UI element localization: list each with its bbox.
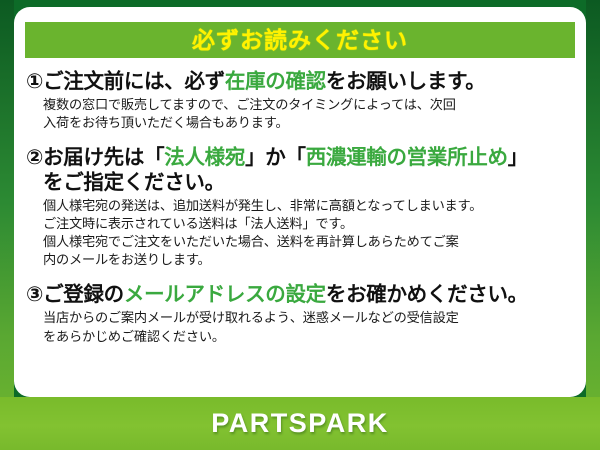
notice-item-3-headline-tail: をお確かめください。 — [326, 283, 528, 306]
notice-item-1: ①ご注文前には、必ず在庫の確認をお願いします。 複数の窓口で販売してますので、ご… — [14, 69, 586, 132]
notice-item-3: ③ご登録のメールアドレスの設定をお確かめください。 当店からのご案内メールが受け… — [14, 282, 586, 345]
notice-card: 必ずお読みください ①ご注文前には、必ず在庫の確認をお願いします。 複数の窓口で… — [0, 0, 600, 450]
notice-item-3-marker: ③ — [26, 283, 43, 306]
quote-close-2: 」 — [508, 146, 528, 169]
notice-item-2-highlight-2: 西濃運輸の営業所止め — [306, 146, 508, 169]
notice-item-2-headline: ②お届け先は「法人様宛」か「西濃運輸の営業所止め」 — [26, 145, 578, 170]
notice-item-3-body: 当店からのご案内メールが受け取れるよう、迷惑メールなどの受信設定 をあらかじめご… — [43, 309, 578, 345]
page-title: 必ずお読みください — [192, 29, 408, 52]
notice-item-1-body: 複数の窓口で販売してますので、ご注文のタイミングによっては、次回 入荷をお待ち頂… — [43, 96, 578, 132]
quote-open-1: 「 — [144, 146, 164, 169]
quote-close-1: 」 — [245, 146, 265, 169]
notice-item-3-headline: ③ご登録のメールアドレスの設定をお確かめください。 — [26, 282, 578, 307]
notice-item-2-headline-lead: お届け先は — [43, 146, 144, 169]
notice-item-2-headline-middle: か — [265, 146, 285, 169]
footer-bar: PARTSPARK — [0, 397, 600, 450]
notice-item-2-body: 個人様宅宛の発送は、追加送料が発生し、非常に高額となってしまいます。 ご注文時に… — [43, 197, 578, 269]
frame-edge-left — [0, 0, 14, 450]
notice-item-list: ①ご注文前には、必ず在庫の確認をお願いします。 複数の窓口で販売してますので、ご… — [14, 69, 586, 346]
header-banner: 必ずお読みください — [25, 22, 575, 58]
notice-item-1-headline-lead: ご注文前には、必ず — [43, 70, 225, 93]
notice-item-1-headline: ①ご注文前には、必ず在庫の確認をお願いします。 — [26, 69, 578, 94]
notice-item-3-headline-highlight: メールアドレスの設定 — [124, 283, 326, 306]
notice-item-1-headline-tail: をお願いします。 — [326, 70, 486, 93]
content-panel: 必ずお読みください ①ご注文前には、必ず在庫の確認をお願いします。 複数の窓口で… — [14, 7, 586, 397]
notice-item-2-marker: ② — [26, 146, 43, 169]
notice-item-2: ②お届け先は「法人様宛」か「西濃運輸の営業所止め」 をご指定ください。 個人様宅… — [14, 145, 586, 269]
brand-logo: PARTSPARK — [211, 408, 389, 439]
frame-edge-right — [586, 0, 600, 450]
notice-item-2-headline-line2: をご指定ください。 — [43, 170, 578, 195]
notice-item-1-headline-highlight: 在庫の確認 — [225, 70, 326, 93]
notice-item-3-headline-lead: ご登録の — [43, 283, 124, 306]
quote-open-2: 「 — [285, 146, 305, 169]
notice-item-1-marker: ① — [26, 70, 43, 93]
notice-item-2-highlight-1: 法人様宛 — [164, 146, 245, 169]
